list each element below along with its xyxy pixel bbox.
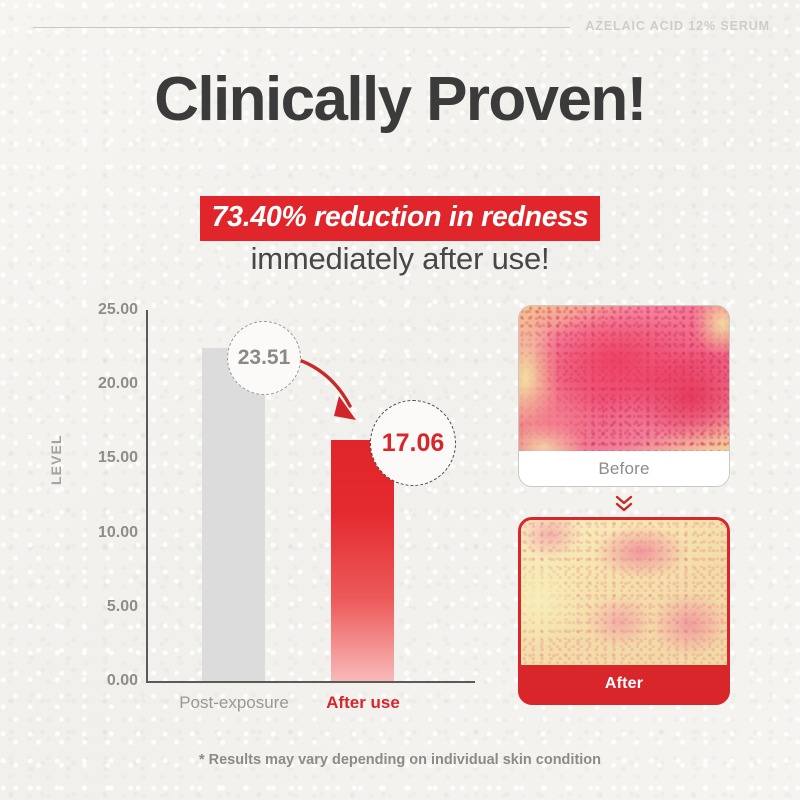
y-tick-label: 20.00	[68, 375, 138, 393]
value-bubble-after-use: 17.06	[370, 400, 456, 486]
photo-caption-before: Before	[519, 452, 729, 486]
x-axis-line	[146, 681, 475, 683]
brand-label: AZELAIC ACID 12% SERUM	[585, 19, 770, 33]
before-after-photos: Before After	[518, 305, 730, 705]
reduction-highlight-badge: 73.40% reduction in redness	[200, 196, 601, 241]
y-tick-label: 0.00	[68, 672, 138, 690]
y-tick-label: 25.00	[68, 301, 138, 319]
skin-image-before	[519, 306, 729, 451]
photo-card-after: After	[518, 517, 730, 705]
photo-caption-after: After	[521, 665, 727, 702]
skin-image-after	[521, 520, 727, 665]
subheadline-secondary: immediately after use!	[0, 241, 800, 277]
double-chevron-down-icon	[518, 490, 730, 516]
header-divider	[33, 27, 570, 28]
value-bubble-post-exposure: 23.51	[227, 321, 301, 395]
y-tick-label: 10.00	[68, 524, 138, 542]
y-axis-line	[146, 310, 148, 682]
y-axis-title: LEVEL	[48, 434, 64, 485]
disclaimer-footnote: * Results may vary depending on individu…	[0, 752, 800, 768]
photo-card-before: Before	[518, 305, 730, 487]
subheadline-highlight-wrap: 73.40% reduction in redness	[0, 196, 800, 241]
category-label-after-use: After use	[295, 693, 431, 713]
y-tick-label: 15.00	[68, 449, 138, 467]
y-tick-label: 5.00	[68, 598, 138, 616]
bar-post-exposure	[202, 348, 265, 681]
bar-after-use	[331, 440, 394, 681]
redness-bar-chart: LEVEL 25.00 20.00 15.00 10.00 5.00 0.00 …	[40, 295, 490, 725]
page-title: Clinically Proven!	[0, 64, 800, 135]
